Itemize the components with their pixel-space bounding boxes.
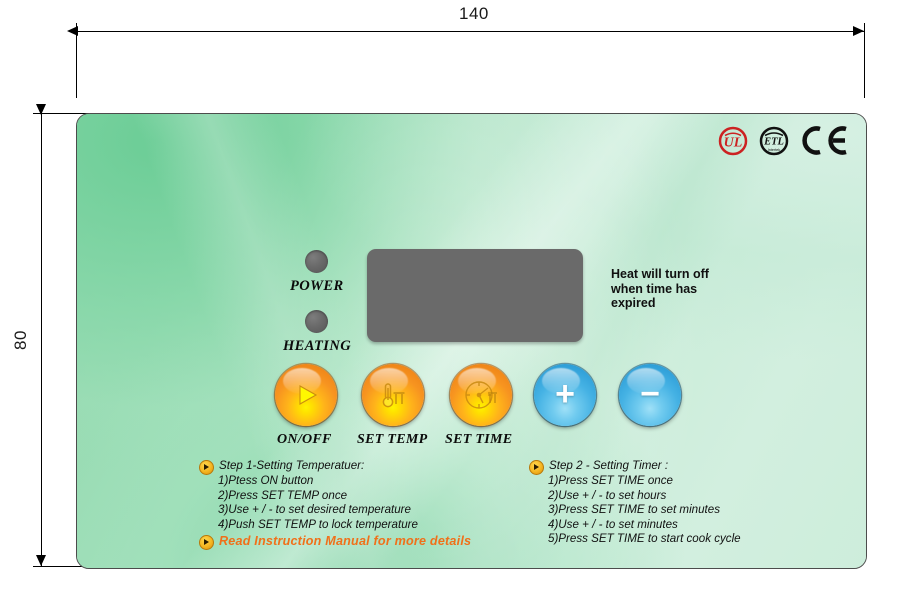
instructions-right-heading-row: Step 2 - Setting Timer : <box>529 459 741 474</box>
dim-line-vertical <box>41 114 42 566</box>
play-icon <box>275 364 337 426</box>
instruction-step: 3)Press SET TIME to set minutes <box>548 503 741 518</box>
heating-led <box>305 310 328 333</box>
svg-text:UL: UL <box>724 135 743 150</box>
ul-icon: UL <box>718 126 748 156</box>
certification-marks: UL ETL Intertek <box>718 125 848 156</box>
set-time-button-label: SET TIME <box>445 432 512 448</box>
instruction-step: 1)Ptess ON button <box>218 474 471 489</box>
set-time-button[interactable] <box>450 364 512 426</box>
note-line-3: expired <box>611 296 761 311</box>
instruction-step: 3)Use + / - to set desired temperature <box>218 503 471 518</box>
minus-glyph: − <box>640 377 660 411</box>
instruction-step: 2)Use + / - to set hours <box>548 489 741 504</box>
instructions-right-steps: 1)Press SET TIME once 2)Use + / - to set… <box>529 474 741 547</box>
plus-glyph: + <box>555 377 575 411</box>
instructions-left-heading-row: Step 1-Setting Temperatuer: <box>199 459 471 474</box>
svg-text:ETL: ETL <box>763 136 784 147</box>
ce-icon <box>800 125 848 156</box>
note-line-2: when time has <box>611 282 761 297</box>
clock-icon <box>450 364 512 426</box>
instructions-right: Step 2 - Setting Timer : 1)Press SET TIM… <box>529 459 741 547</box>
power-led-label: POWER <box>290 278 344 295</box>
set-temp-button-label: SET TEMP <box>357 432 427 448</box>
width-dimension-label: 140 <box>459 4 489 24</box>
instructions-left-steps: 1)Ptess ON button 2)Press SET TEMP once … <box>199 474 471 532</box>
arrowhead-bottom <box>36 555 46 566</box>
play-bullet-icon <box>529 460 544 475</box>
instructions-left: Step 1-Setting Temperatuer: 1)Ptess ON b… <box>199 459 471 549</box>
minus-icon: − <box>619 364 681 426</box>
heating-led-label: HEATING <box>283 338 351 355</box>
arrowhead-right <box>853 26 864 36</box>
instruction-step: 2)Press SET TEMP once <box>218 489 471 504</box>
arrowhead-top <box>36 104 46 115</box>
height-dimension-label: 80 <box>11 325 31 355</box>
instruction-step: 1)Press SET TIME once <box>548 474 741 489</box>
play-bullet-icon <box>199 460 214 475</box>
on-off-button[interactable] <box>275 364 337 426</box>
instruction-step: 5)Press SET TIME to start cook cycle <box>548 532 741 547</box>
set-temp-button[interactable] <box>362 364 424 426</box>
instruction-step: 4)Push SET TEMP to lock temperature <box>218 518 471 533</box>
power-led <box>305 250 328 273</box>
digital-display <box>367 249 583 342</box>
read-manual-row[interactable]: Read Instruction Manual for more details <box>199 534 471 549</box>
play-bullet-icon <box>199 535 214 550</box>
arrowhead-left <box>67 26 78 36</box>
thermometer-icon <box>362 364 424 426</box>
heat-timeout-note: Heat will turn off when time has expired <box>611 267 761 311</box>
plus-icon: + <box>534 364 596 426</box>
ext-line-right <box>864 23 865 98</box>
etl-icon: ETL Intertek <box>759 126 789 156</box>
instruction-step: 4)Use + / - to set minutes <box>548 518 741 533</box>
on-off-button-label: ON/OFF <box>277 432 332 448</box>
minus-button[interactable]: − <box>619 364 681 426</box>
plus-button[interactable]: + <box>534 364 596 426</box>
control-panel: UL ETL Intertek POWER HEATING Heat will … <box>76 113 867 569</box>
svg-text:Intertek: Intertek <box>768 148 781 152</box>
instructions-left-heading: Step 1-Setting Temperatuer: <box>219 459 364 474</box>
read-manual-label: Read Instruction Manual for more details <box>219 534 471 549</box>
note-line-1: Heat will turn off <box>611 267 761 282</box>
instructions-right-heading: Step 2 - Setting Timer : <box>549 459 668 474</box>
dim-line-horizontal <box>77 31 865 32</box>
